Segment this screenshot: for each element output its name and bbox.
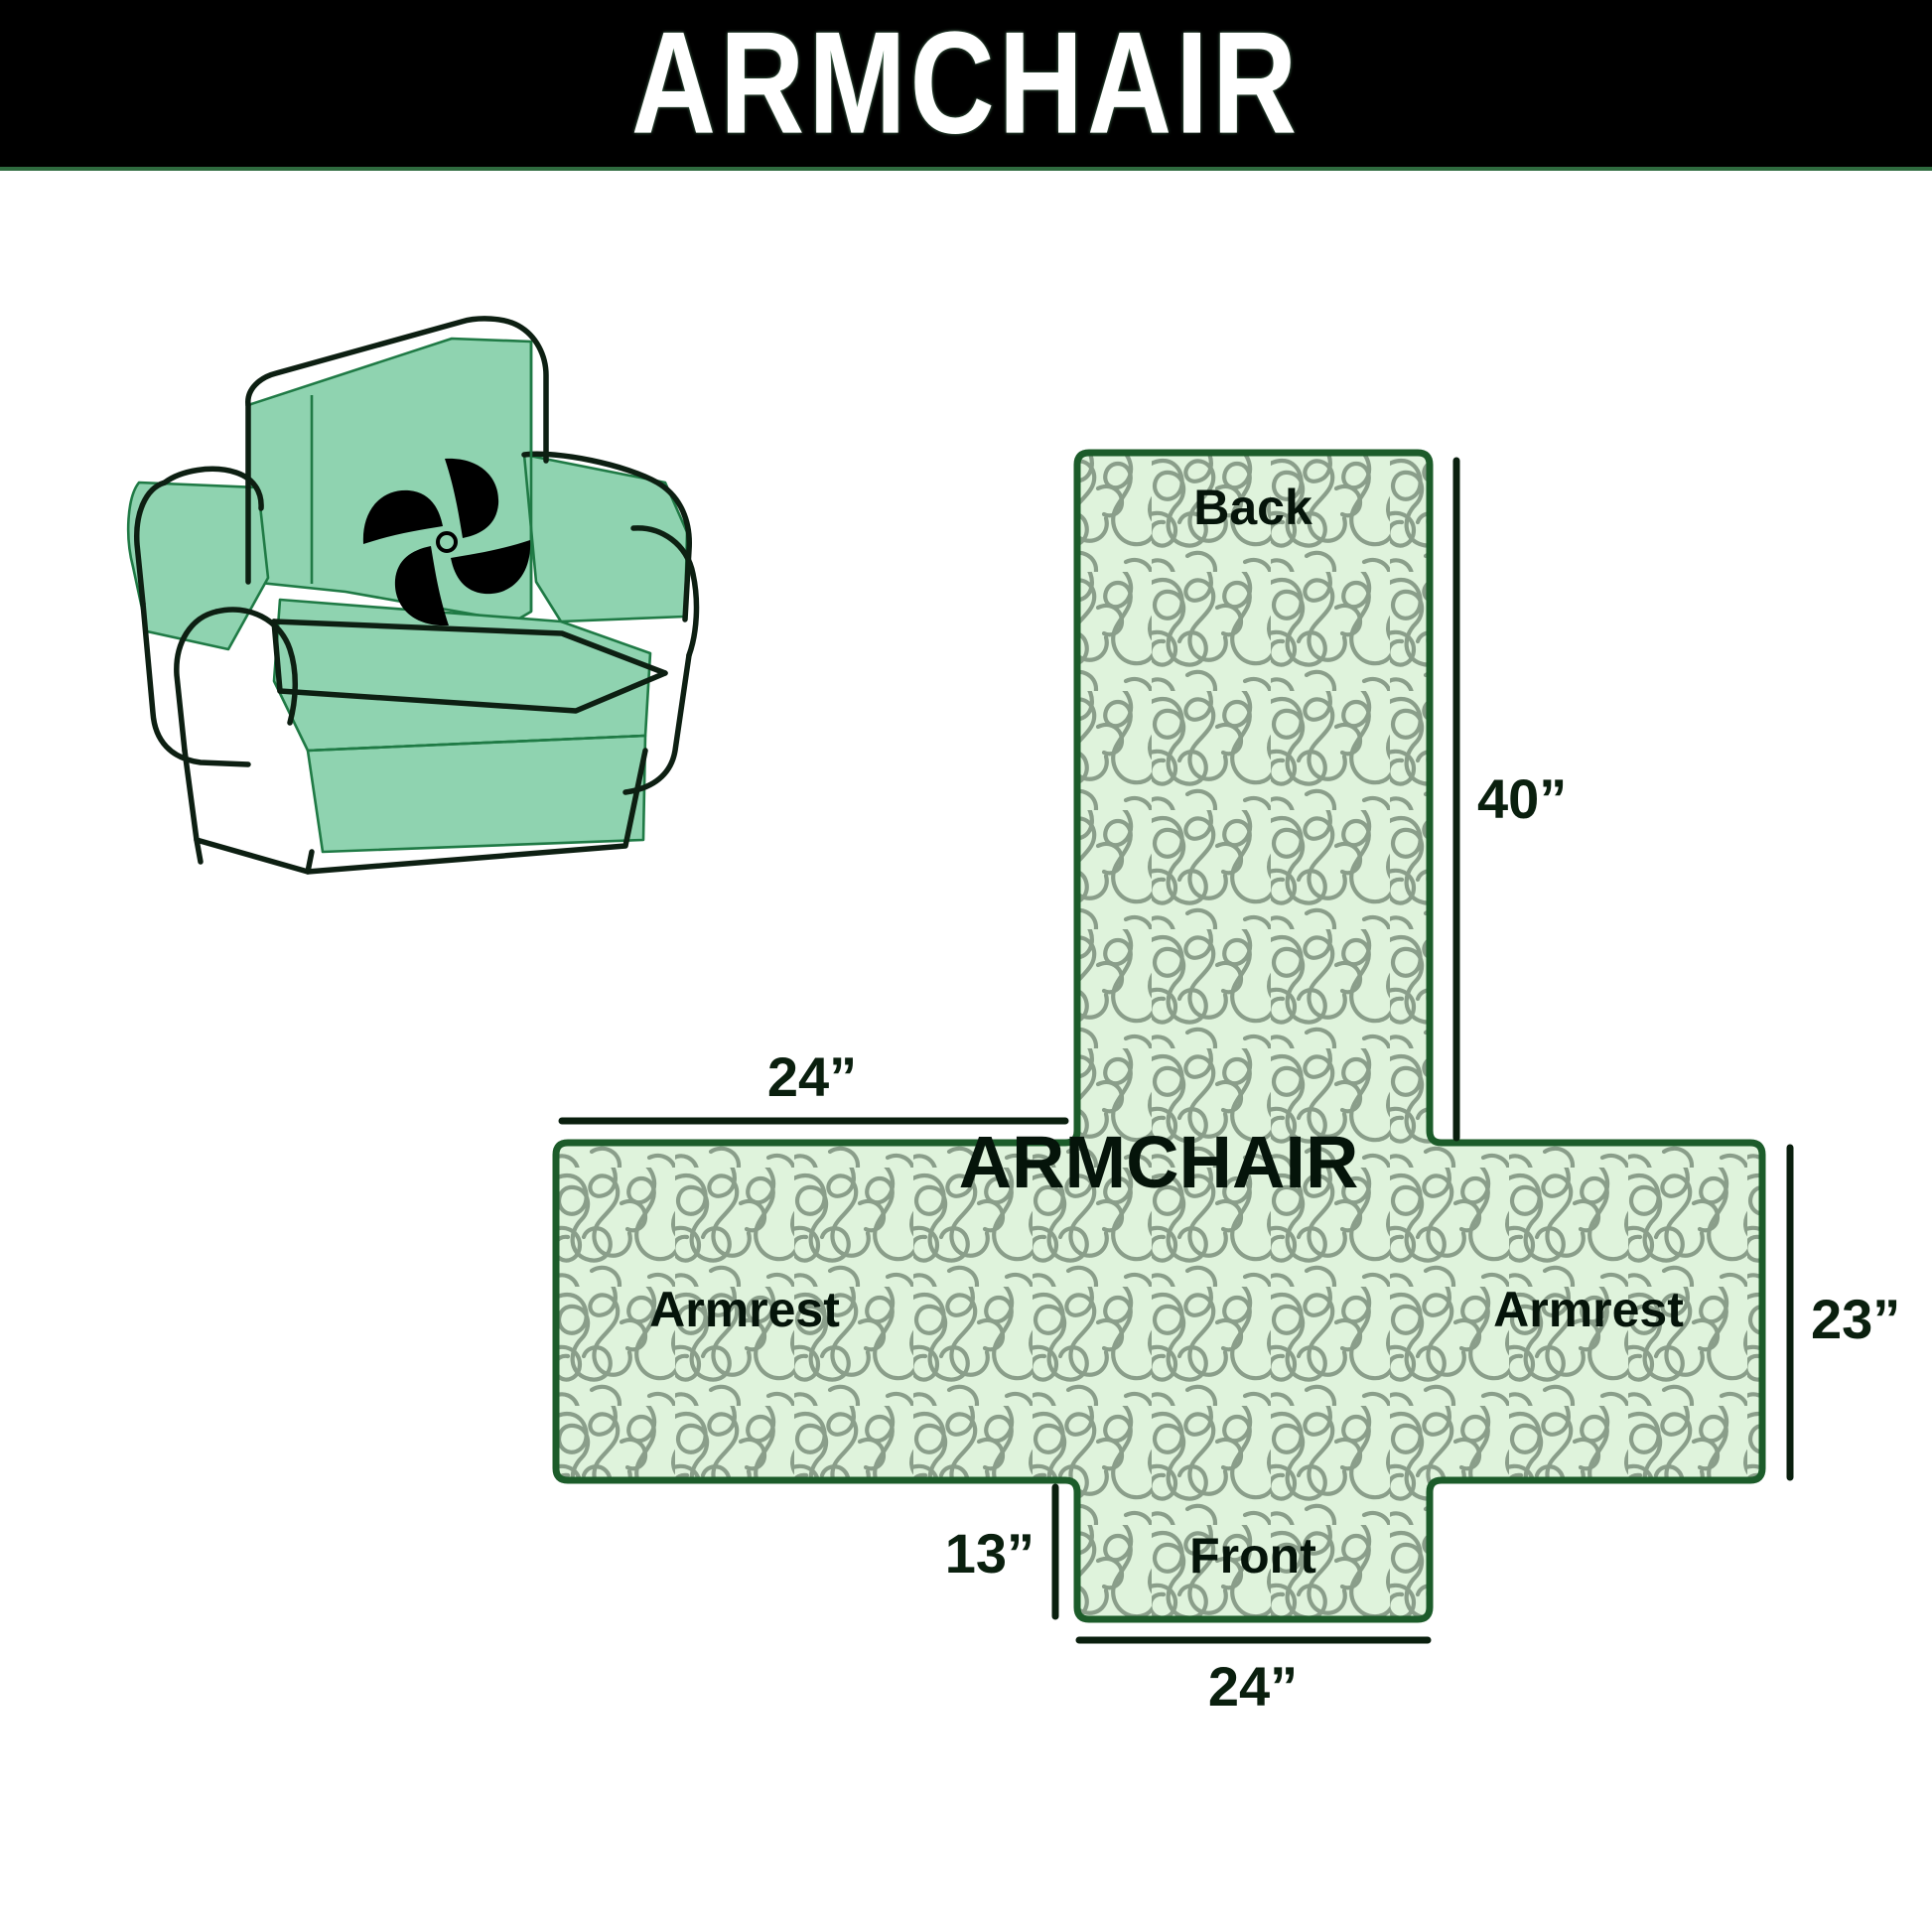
dimension-front-height: 13” (945, 1487, 1055, 1616)
page-title: ARMCHAIR (631, 11, 1301, 156)
section-label-back: Back (1193, 480, 1312, 535)
dimension-front-width: 24” (1079, 1640, 1428, 1718)
svg-text:24”: 24” (1208, 1655, 1298, 1718)
header-banner: ARMCHAIR (0, 0, 1932, 171)
dimension-center-height: 23” (1790, 1148, 1900, 1477)
svg-text:13”: 13” (945, 1522, 1035, 1585)
dimension-armrest-width: 24” (562, 1045, 1065, 1121)
svg-text:40”: 40” (1477, 767, 1567, 830)
svg-text:23”: 23” (1811, 1288, 1900, 1350)
cover-cross-shape (556, 453, 1762, 1619)
cover-layout-diagram: Back ARMCHAIR Armrest Armrest Front 40” … (556, 453, 1932, 1892)
section-label-front: Front (1189, 1528, 1316, 1584)
diagram-center-label: ARMCHAIR (959, 1121, 1359, 1203)
main-canvas: .outline{fill:none;stroke:#0d1f12;stroke… (0, 175, 1932, 1932)
section-label-armrest-left: Armrest (649, 1282, 840, 1337)
svg-text:24”: 24” (767, 1045, 857, 1108)
section-label-armrest-right: Armrest (1493, 1282, 1684, 1337)
dimension-back-height: 40” (1456, 461, 1567, 1138)
